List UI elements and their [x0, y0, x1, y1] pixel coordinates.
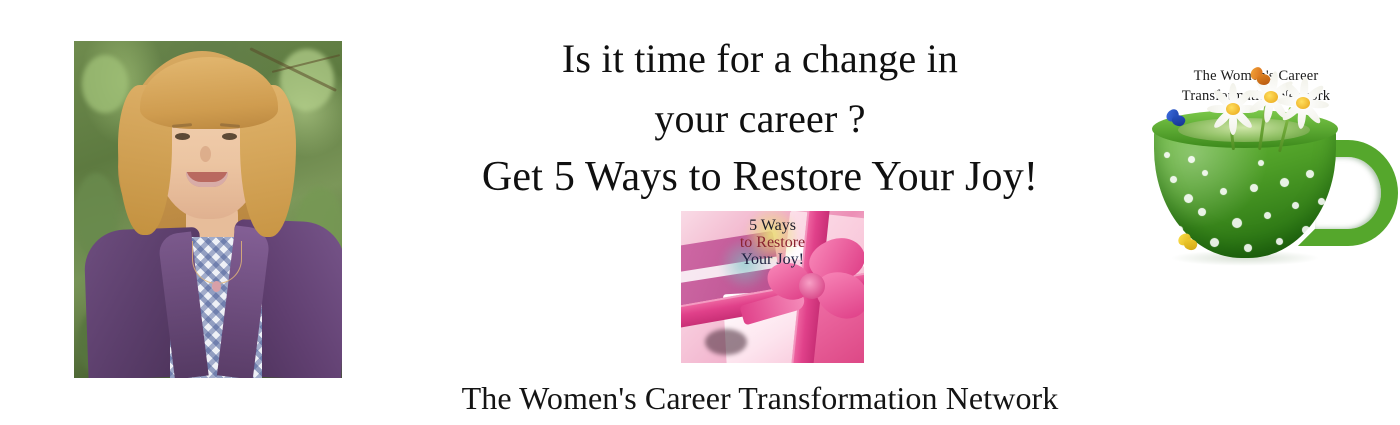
eye-right: [222, 133, 237, 140]
moss-flower: [1324, 218, 1330, 224]
daisy-flower: [1216, 94, 1250, 124]
moss-flower: [1176, 226, 1183, 233]
bottom-tagline: The Women's Career Transformation Networ…: [380, 380, 1140, 417]
moss-flower: [1220, 188, 1227, 195]
headline-block: Is it time for a change in your career ?…: [380, 30, 1140, 204]
shadow-blob: [705, 329, 747, 355]
moss-flower: [1244, 244, 1252, 252]
gift-overlay-line-3: Your Joy!: [681, 251, 864, 268]
moss-flower: [1258, 160, 1264, 166]
eye-left: [175, 133, 190, 140]
gift-overlay-line-1: 5 Ways: [681, 217, 864, 234]
moss-flower: [1188, 156, 1195, 163]
portrait-subject: [74, 41, 342, 378]
moss-flower: [1302, 226, 1310, 234]
moss-flower: [1232, 218, 1242, 228]
moss-flower: [1318, 198, 1325, 205]
orange-butterfly-icon: [1250, 68, 1272, 86]
daisy-center: [1264, 91, 1278, 103]
moss-flower: [1292, 202, 1299, 209]
yellow-butterfly-icon: [1178, 234, 1198, 250]
daisy-center: [1296, 97, 1310, 109]
moss-flower: [1202, 170, 1208, 176]
daisy-flower: [1286, 88, 1320, 118]
daisy-center: [1226, 103, 1240, 115]
moss-flower: [1276, 238, 1283, 245]
headline-line-2: your career ?: [380, 88, 1140, 150]
moss-flower: [1306, 170, 1314, 178]
moss-flower: [1280, 178, 1289, 187]
headline-line-3: Get 5 Ways to Restore Your Joy!: [380, 150, 1140, 204]
portrait-photo: [74, 41, 342, 378]
nose: [200, 146, 211, 162]
necklace-pendant: [212, 281, 221, 292]
gift-overlay-text: 5 Ways to Restore Your Joy!: [681, 217, 864, 268]
moss-flower: [1164, 152, 1170, 158]
moss-flower: [1250, 184, 1258, 192]
moss-flower: [1170, 176, 1177, 183]
promo-banner: Is it time for a change in your career ?…: [0, 0, 1400, 425]
moss-flower: [1264, 212, 1271, 219]
gift-offer-image[interactable]: 5 Ways to Restore Your Joy!: [681, 211, 864, 363]
brand-logo[interactable]: The Women's Career Transformation Networ…: [1140, 66, 1372, 302]
blue-butterfly-icon: [1166, 110, 1188, 128]
moss-flower: [1210, 238, 1219, 247]
gift-overlay-line-2: to Restore: [681, 234, 864, 251]
moss-flower: [1184, 194, 1193, 203]
moss-flower: [1198, 208, 1206, 216]
ribbon-knot: [799, 273, 825, 299]
headline-line-1: Is it time for a change in: [380, 30, 1140, 88]
